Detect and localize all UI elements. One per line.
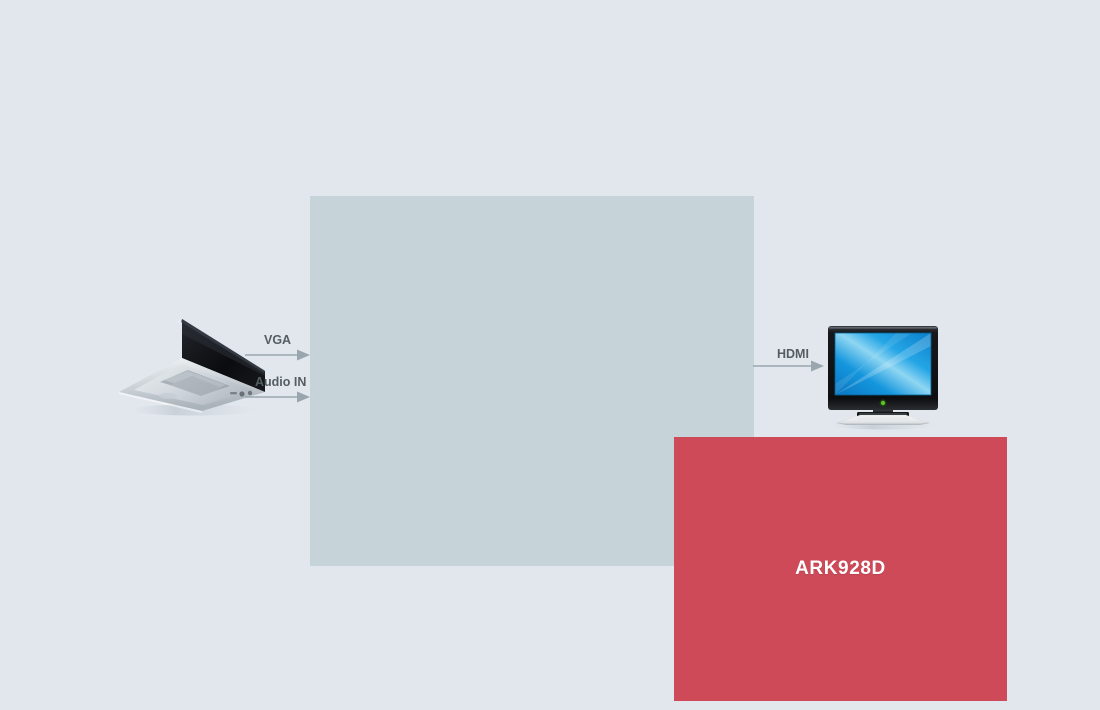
hdtv-bezel-highlight [829,327,937,329]
laptop-trackpad [159,393,177,399]
device-model-label: ARK928D [795,558,886,580]
connection-label-audio-in: Audio IN [255,375,306,389]
hdtv-base-highlight [859,413,907,415]
connection-arrow-hdmi [753,357,825,375]
connection-arrow-vga [245,346,311,364]
hdtv-illustration [816,324,950,432]
hdtv-power-led-icon [881,401,885,405]
connection-label-vga: VGA [264,333,291,347]
arrow-head [297,350,310,361]
device-red-panel: ARK928D [674,437,1007,701]
device-outer-frame: ARK928D [310,196,754,566]
diagram-canvas: VGA Audio IN ARK928D HDMI [0,0,1100,710]
hdtv-stand-gloss [838,416,928,424]
connection-arrow-audio-in [245,388,311,406]
arrow-head [297,392,310,403]
hdtv-svg [816,324,950,432]
